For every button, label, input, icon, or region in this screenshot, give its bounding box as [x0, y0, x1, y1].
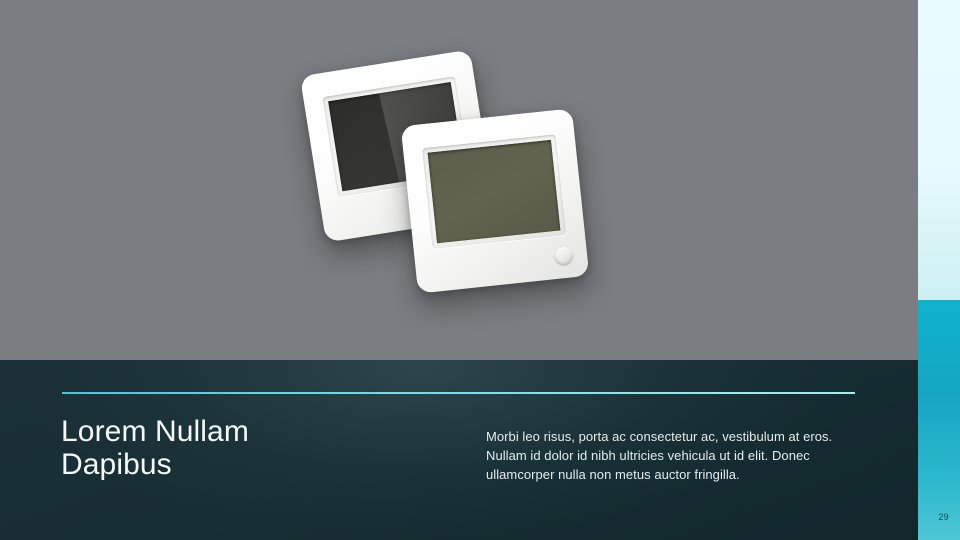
- right-strip-top-band: [918, 0, 960, 300]
- photo-frame-front-screen: [428, 140, 561, 243]
- photo-frame-front-knob-icon: [554, 246, 573, 265]
- image-stage: [0, 0, 918, 360]
- photo-frame-front: [401, 108, 590, 293]
- page-number: 29: [938, 512, 949, 522]
- right-strip-bottom-band: [918, 300, 960, 540]
- slide-body-text: Morbi leo risus, porta ac consectetur ac…: [486, 427, 858, 484]
- slide: Lorem Nullam Dapibus Morbi leo risus, po…: [0, 0, 960, 540]
- caption-panel: Lorem Nullam Dapibus Morbi leo risus, po…: [0, 360, 918, 540]
- accent-rule-divider: [62, 392, 855, 394]
- slide-title: Lorem Nullam Dapibus: [61, 415, 249, 481]
- photo-frames-group: [0, 0, 918, 360]
- right-accent-strip: [918, 0, 960, 540]
